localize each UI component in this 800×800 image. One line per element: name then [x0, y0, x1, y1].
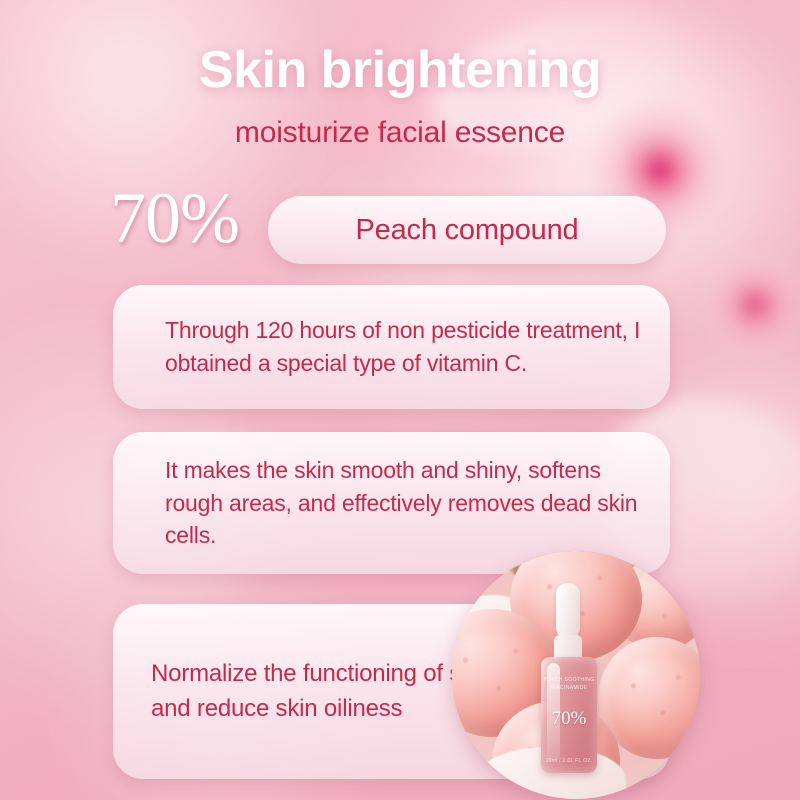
feature-card-text: Through 120 hours of non pesticide treat… [165, 314, 642, 379]
bottle-percent-label: 70% [541, 709, 597, 728]
product-poster: Skin brightening moisturize facial essen… [0, 0, 800, 800]
bottle-body: PEACH SOOTHING NIACINAMIDE 70% 30ml / 1.… [541, 657, 597, 773]
page-subtitle: moisturize facial essence [0, 118, 800, 148]
feature-card-text: It makes the skin smooth and shiny, soft… [165, 454, 642, 552]
product-photo-scene: PEACH SOOTHING NIACINAMIDE 70% 30ml / 1.… [452, 551, 700, 799]
serum-bottle: PEACH SOOTHING NIACINAMIDE 70% 30ml / 1.… [538, 583, 600, 783]
bottle-brand-text: PEACH SOOTHING NIACINAMIDE [541, 677, 597, 692]
product-photo: PEACH SOOTHING NIACINAMIDE 70% 30ml / 1.… [452, 551, 700, 799]
ingredient-pill-label: Peach compound [356, 214, 579, 247]
dropper-cap [556, 583, 580, 639]
cherry-blossom-icon [700, 250, 800, 360]
ingredient-pill: Peach compound [268, 196, 666, 264]
percent-badge: 70% [110, 182, 239, 254]
page-title: Skin brightening [0, 44, 800, 96]
bottle-volume-label: 30ml / 1.01 FL.OZ. [541, 758, 597, 764]
feature-card: Through 120 hours of non pesticide treat… [113, 285, 670, 409]
